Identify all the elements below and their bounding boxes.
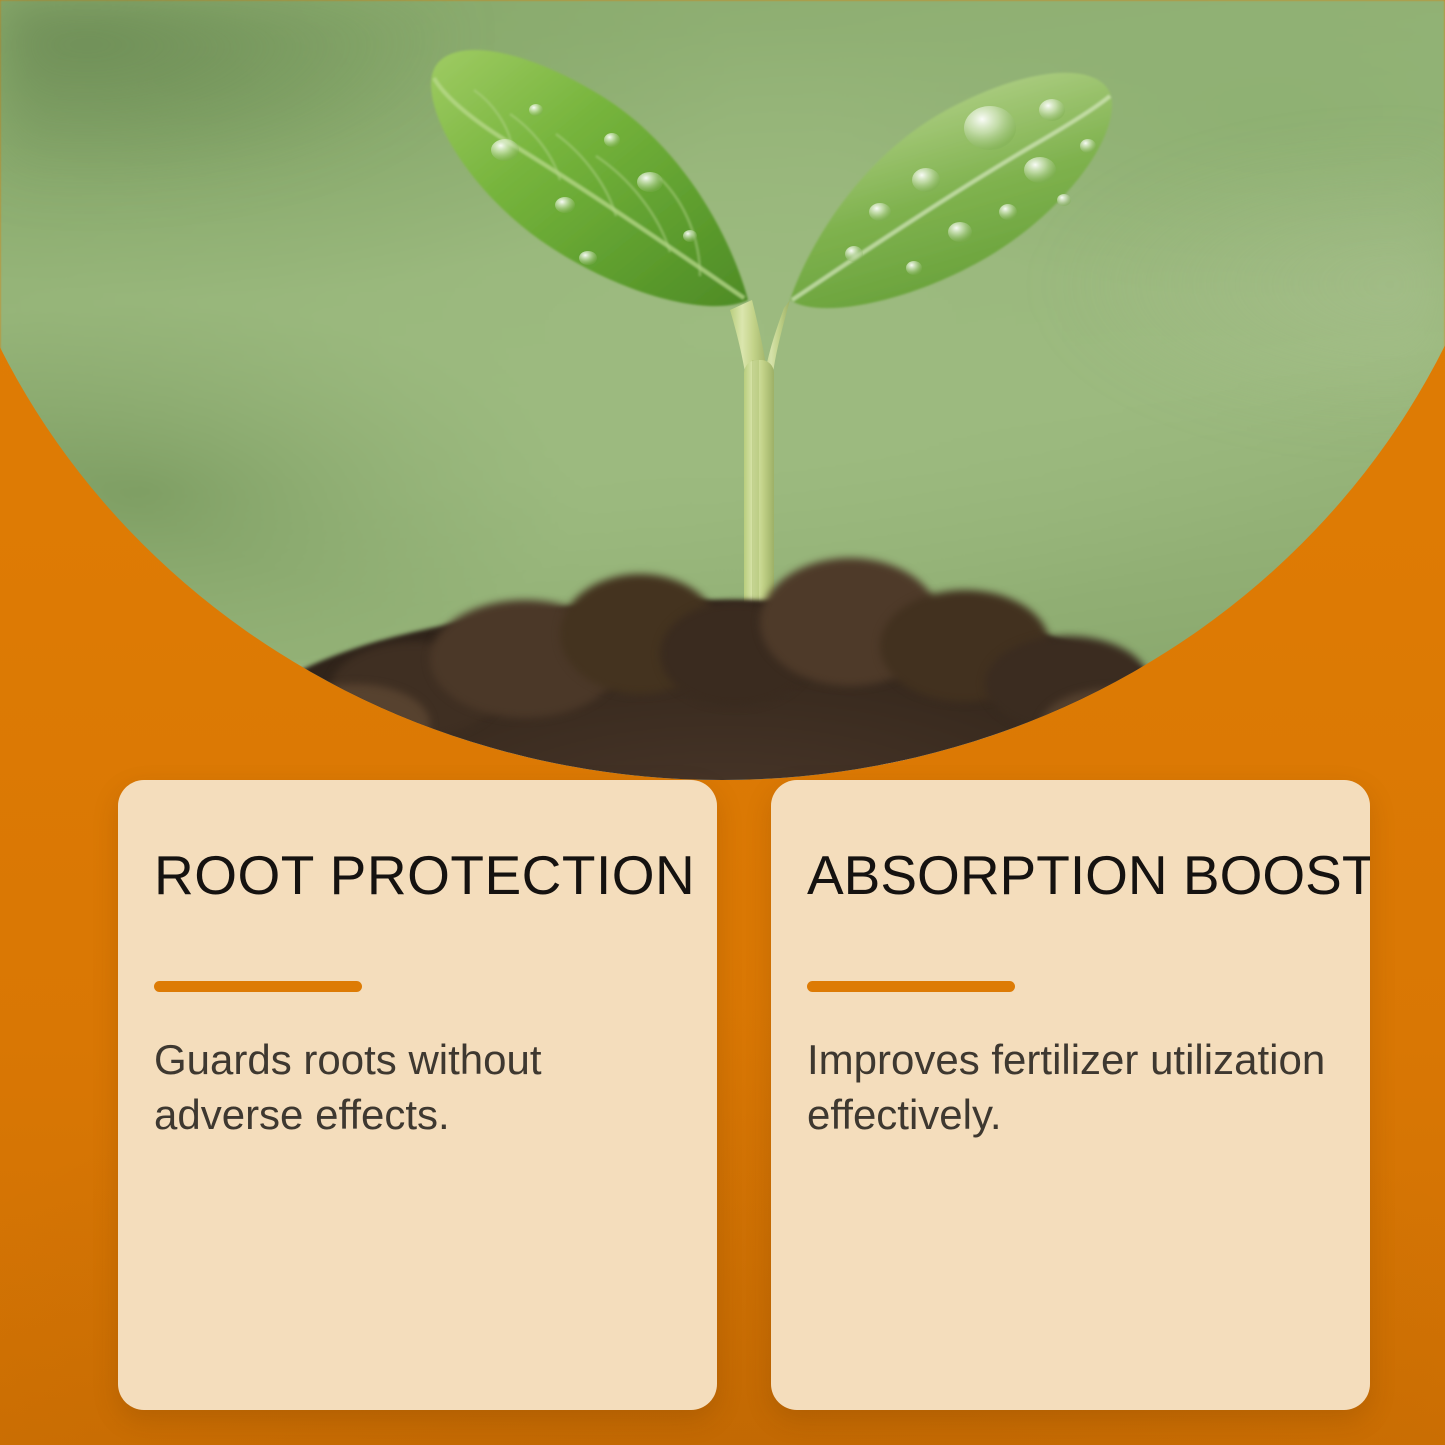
feature-card-absorption-boost[interactable]: ABSORPTION BOOST Improves fertilizer uti… <box>771 780 1370 1410</box>
card-title: ABSORPTION BOOST <box>807 848 1334 903</box>
card-accent-rule <box>154 981 362 992</box>
card-description: Guards roots without adverse effects. <box>154 1032 681 1143</box>
card-accent-rule <box>807 981 1015 992</box>
product-feature-banner: ROOT PROTECTION Guards roots without adv… <box>0 0 1445 1445</box>
card-description: Improves fertilizer utilization effectiv… <box>807 1032 1334 1143</box>
card-title: ROOT PROTECTION <box>154 848 681 903</box>
feature-card-list: ROOT PROTECTION Guards roots without adv… <box>118 780 1370 1410</box>
feature-card-root-protection[interactable]: ROOT PROTECTION Guards roots without adv… <box>118 780 717 1410</box>
